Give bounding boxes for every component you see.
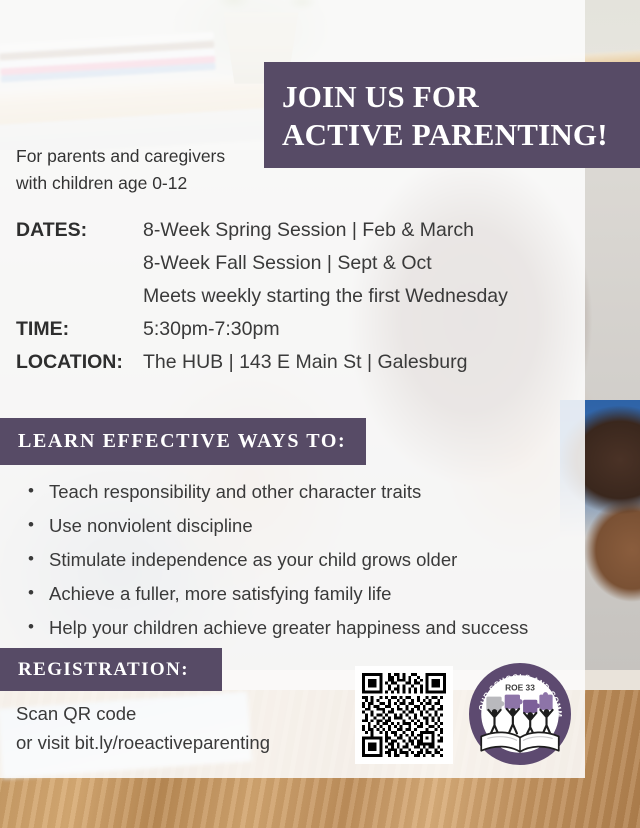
- roe33-logo-svg: SERVING OUR SCHOOLS AND COMMUNITIES ROE …: [469, 663, 571, 765]
- benefits-list: Teach responsibility and other character…: [26, 483, 528, 653]
- qr-code-svg: [362, 673, 446, 757]
- detail-label-location: LOCATION:: [16, 351, 143, 374]
- list-item: Help your children achieve greater happi…: [26, 619, 528, 638]
- flyer-poster: JOIN US FOR ACTIVE PARENTING! For parent…: [0, 0, 640, 828]
- detail-value-time: 5:30pm-7:30pm: [143, 318, 280, 341]
- learn-banner: LEARN EFFECTIVE WAYS TO:: [0, 418, 366, 465]
- detail-value-fall-session: 8-Week Fall Session | Sept & Oct: [143, 252, 508, 285]
- list-item: Use nonviolent discipline: [26, 517, 528, 536]
- registration-banner: REGISTRATION:: [0, 648, 222, 691]
- registration-line-1: Scan QR code: [16, 700, 270, 729]
- list-item: Stimulate independence as your child gro…: [26, 551, 528, 570]
- detail-row-location: LOCATION: The HUB | 143 E Main St | Gale…: [16, 351, 508, 384]
- detail-label-dates: DATES:: [16, 219, 143, 242]
- registration-line-2: or visit bit.ly/roeactiveparenting: [16, 729, 270, 758]
- detail-value-dates: 8-Week Spring Session | Feb & March: [143, 219, 474, 242]
- title-banner: JOIN US FOR ACTIVE PARENTING!: [264, 62, 640, 168]
- intro-line-2: with children age 0-12: [16, 170, 225, 197]
- list-item: Achieve a fuller, more satisfying family…: [26, 585, 528, 604]
- title-line-2: ACTIVE PARENTING!: [282, 116, 640, 154]
- details-block: DATES: 8-Week Spring Session | Feb & Mar…: [16, 219, 508, 384]
- intro-line-1: For parents and caregivers: [16, 143, 225, 170]
- detail-value-location: The HUB | 143 E Main St | Galesburg: [143, 351, 467, 374]
- list-item: Teach responsibility and other character…: [26, 483, 528, 502]
- detail-row-dates: DATES: 8-Week Spring Session | Feb & Mar…: [16, 219, 508, 252]
- qr-code-icon[interactable]: [355, 666, 453, 764]
- roe33-logo-icon: SERVING OUR SCHOOLS AND COMMUNITIES ROE …: [469, 663, 571, 765]
- intro-text: For parents and caregivers with children…: [16, 143, 225, 196]
- logo-center-text: ROE 33: [505, 683, 535, 693]
- detail-label-time: TIME:: [16, 318, 143, 341]
- detail-row-time: TIME: 5:30pm-7:30pm: [16, 318, 508, 351]
- detail-value-meeting-cadence: Meets weekly starting the first Wednesda…: [143, 285, 508, 318]
- registration-text: Scan QR code or visit bit.ly/roeactivepa…: [16, 700, 270, 757]
- title-line-1: JOIN US FOR: [282, 78, 640, 116]
